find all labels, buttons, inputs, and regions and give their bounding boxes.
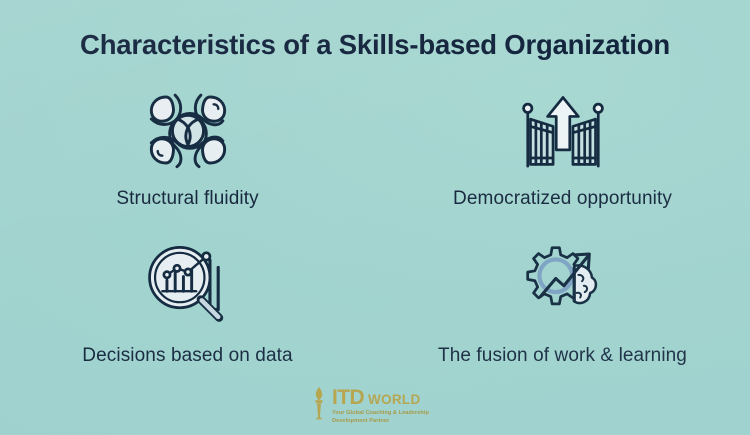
characteristic-item: Democratized opportunity <box>375 84 750 229</box>
itd-world-logo[interactable]: ITD WORLD Your Global Coaching & Leaders… <box>0 386 750 425</box>
characteristic-label: Decisions based on data <box>82 345 292 368</box>
logo-name: ITD <box>332 387 364 408</box>
logo-suffix: WORLD <box>368 393 421 407</box>
gear-brain-growth-arrow-icon <box>515 237 611 329</box>
page-title: Characteristics of a Skills-based Organi… <box>0 29 750 61</box>
characteristic-label: The fusion of work & learning <box>438 345 687 368</box>
slide-canvas: Characteristics of a Skills-based Organi… <box>0 0 750 435</box>
torch-flame-icon <box>310 386 328 420</box>
characteristic-item: Structural fluidity <box>0 84 375 229</box>
interlocking-knot-icon <box>140 84 236 176</box>
logo-tagline: Your Global Coaching & Leadership Develo… <box>332 410 440 425</box>
logo-text-block: ITD WORLD Your Global Coaching & Leaders… <box>332 386 440 425</box>
open-gate-arrow-icon <box>515 84 611 176</box>
magnifier-bar-chart-icon <box>140 237 236 329</box>
characteristic-item: The fusion of work & learning <box>375 229 750 374</box>
logo-name-row: ITD WORLD <box>332 387 421 408</box>
characteristics-grid: Structural fluidity <box>0 84 750 374</box>
characteristic-label: Democratized opportunity <box>453 188 672 211</box>
characteristic-item: Decisions based on data <box>0 229 375 374</box>
characteristic-label: Structural fluidity <box>116 188 258 211</box>
